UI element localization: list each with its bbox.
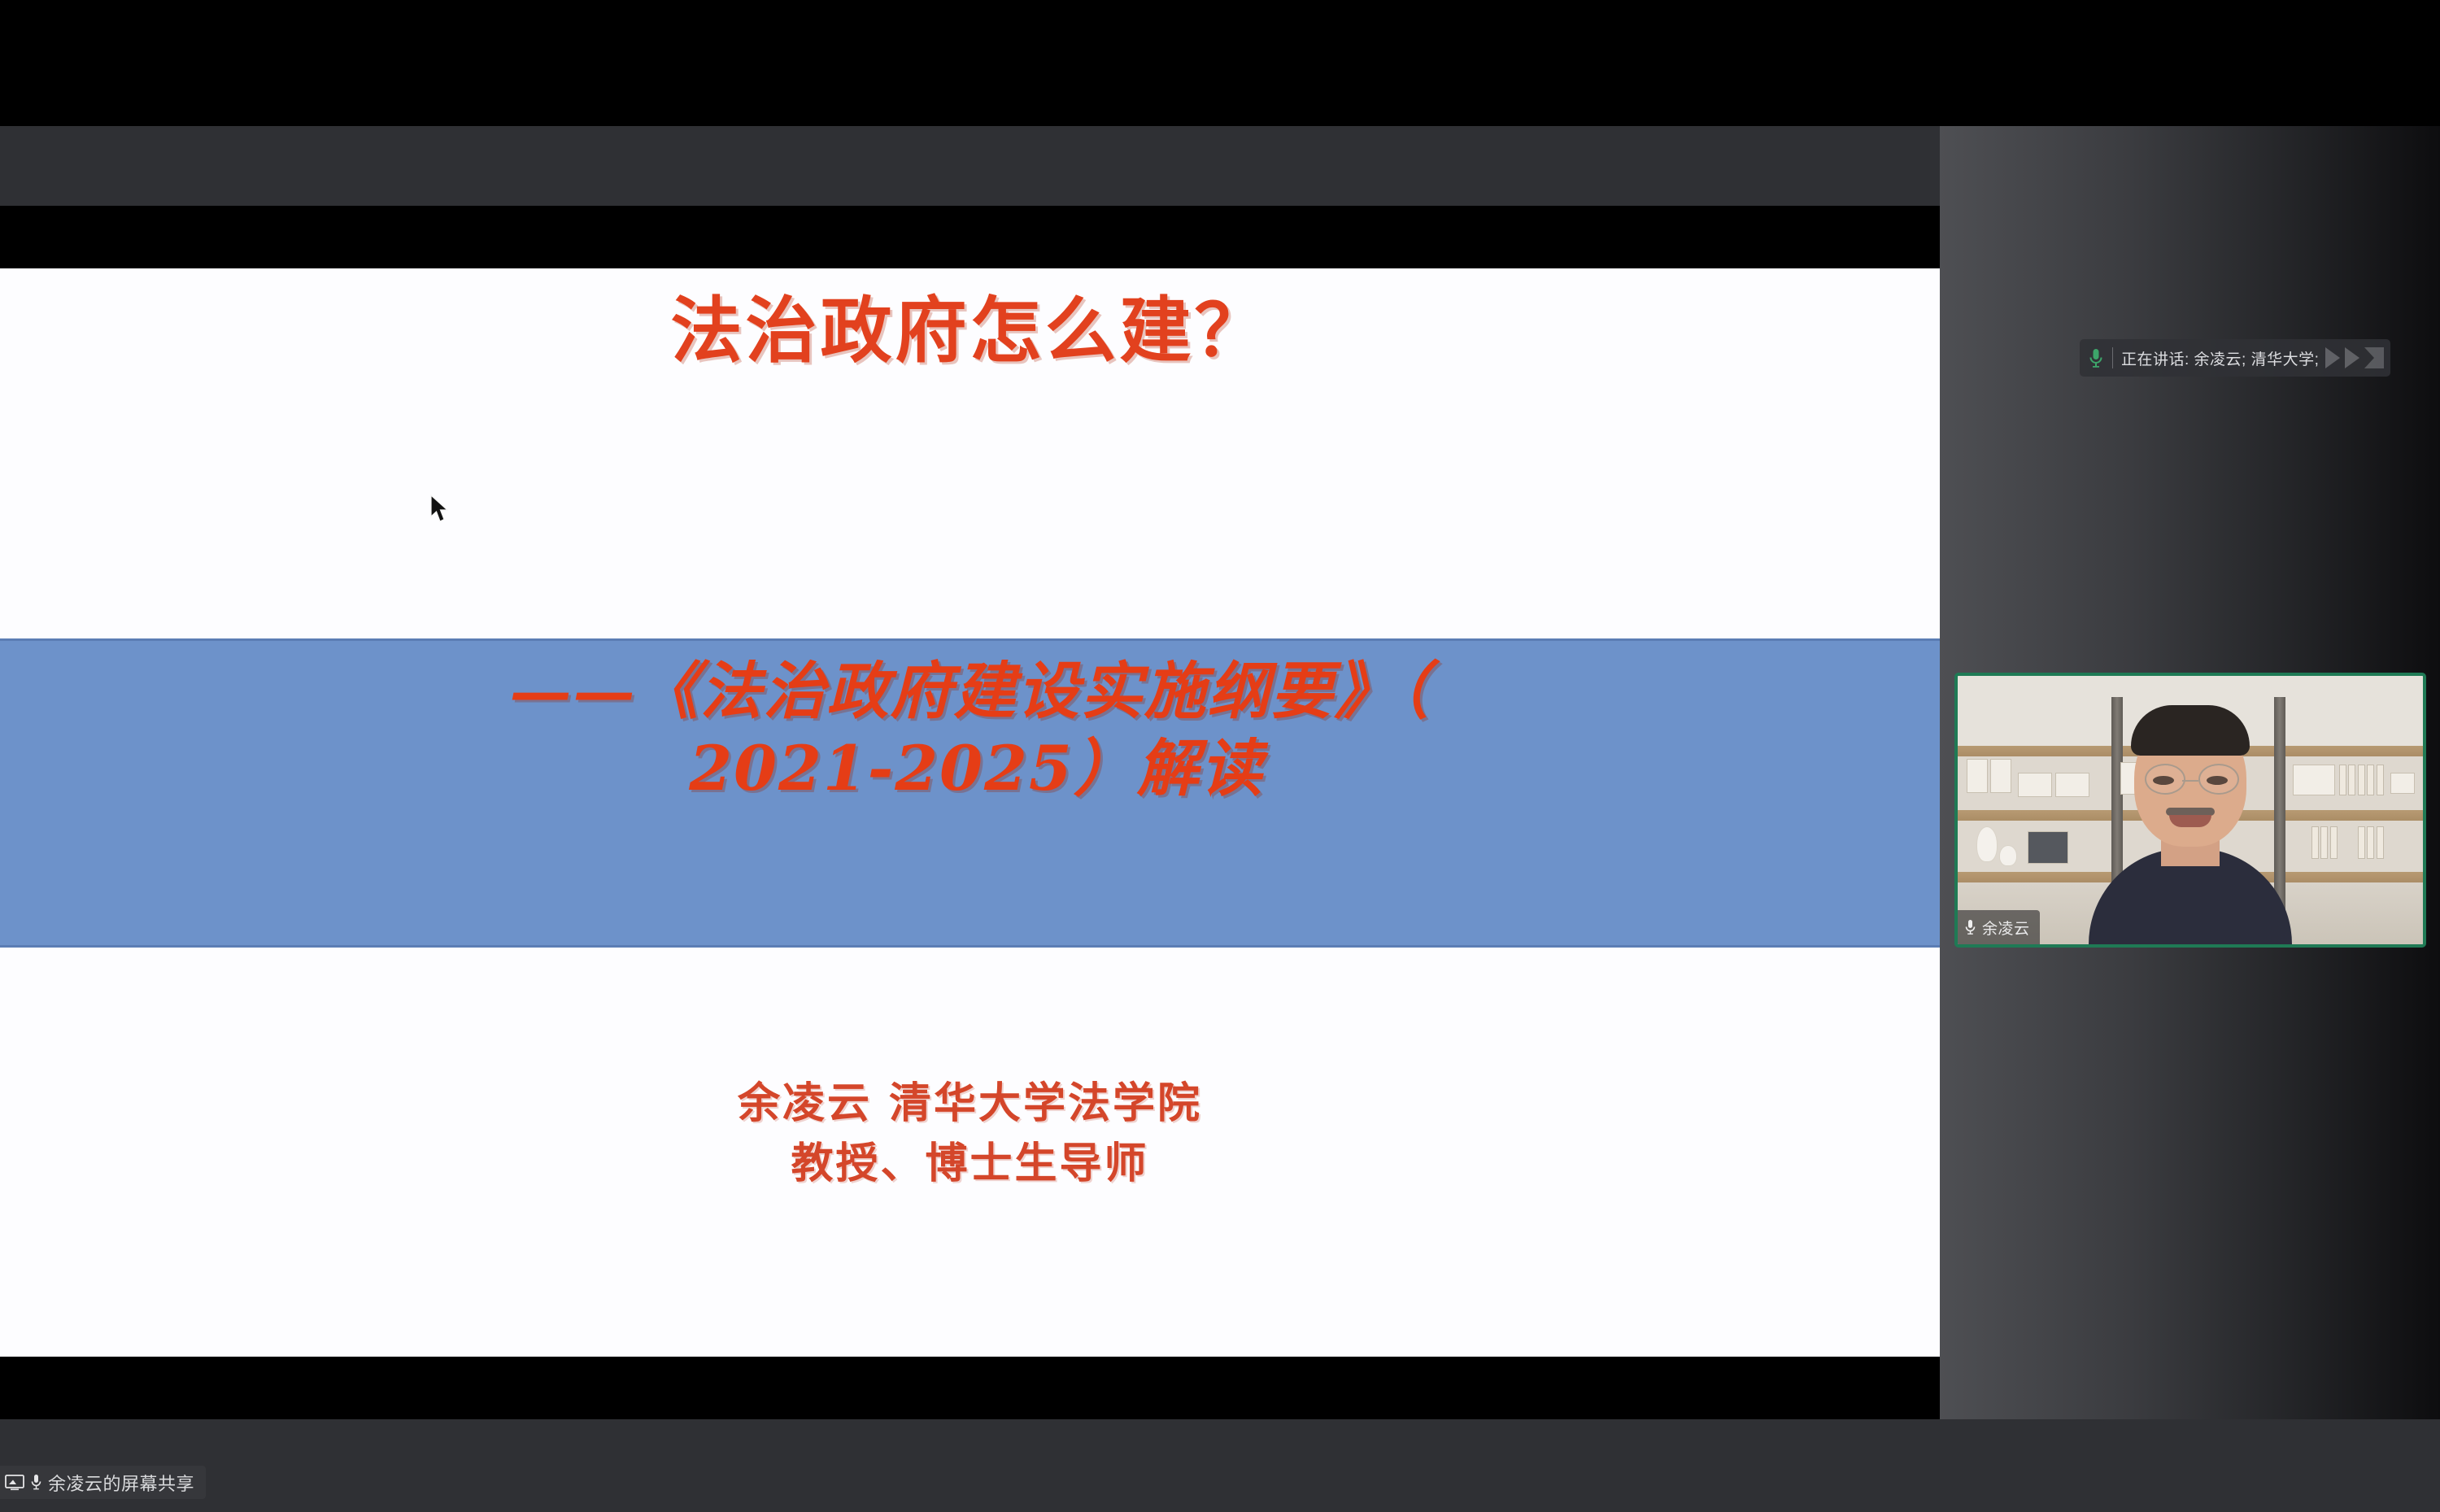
screen-share-status-label: 余凌云的屏幕共享 <box>48 1470 194 1496</box>
shelf-box <box>2390 773 2415 794</box>
slide-presenter-block: 余凌云 清华大学法学院 教授、博士生导师 <box>0 1074 1940 1194</box>
mic-unmuted-icon <box>1964 919 1976 935</box>
slide-subtitle-line-1: ——《法治政府建设实施纲要》（ <box>0 652 1940 730</box>
participant-video-feed <box>2089 725 2292 944</box>
slide-canvas: 法治政府怎么建？ ——《法治政府建设实施纲要》（ 2021-2025）解读 余凌… <box>0 268 1940 1357</box>
shelf-book <box>2330 826 2338 859</box>
participant-nametag: 余凌云 <box>1958 910 2040 944</box>
double-chevron-icon <box>2320 344 2384 372</box>
shelf-box <box>1990 759 2011 793</box>
slide-presenter-line-2: 教授、博士生导师 <box>0 1134 1940 1194</box>
letterbox-bottom <box>0 1357 1940 1419</box>
participant-video-tile[interactable]: 余凌云 <box>1954 673 2426 948</box>
shelf-book <box>2348 765 2355 795</box>
participant-name-label: 余凌云 <box>1982 917 2030 939</box>
screen-share-icon <box>5 1475 24 1491</box>
person-glasses-bridge <box>2182 780 2198 782</box>
active-speaker-indicator[interactable]: 正在讲话: 余凌云; 清华大学; <box>2080 339 2390 377</box>
shelf-book <box>2367 765 2374 795</box>
screen-share-status[interactable]: 余凌云的屏幕共享 <box>0 1466 206 1499</box>
letterbox-top <box>0 0 1940 126</box>
mic-active-icon <box>2088 347 2104 368</box>
shelf-vase <box>1999 845 2017 866</box>
shelf-vase <box>1976 826 1998 862</box>
participant-panel: 正在讲话: 余凌云; 清华大学; <box>1940 126 2440 1450</box>
shelf-book <box>2377 765 2384 795</box>
person-mouth <box>2169 815 2211 827</box>
presentation-toolbar-band <box>0 126 1940 206</box>
person-glasses <box>2198 764 2239 795</box>
slide-subtitle-line-2: 2021-2025）解读 <box>0 730 1940 807</box>
person-hair <box>2131 705 2250 756</box>
mic-unmuted-icon <box>30 1474 42 1491</box>
shelf-monitor <box>2028 831 2068 864</box>
shelf-book <box>2339 765 2346 795</box>
shelf-box <box>2293 765 2335 795</box>
slide-title: 法治政府怎么建？ <box>0 290 1940 372</box>
shelf-box <box>2018 773 2052 797</box>
shelf-book <box>2358 826 2365 859</box>
shelf-book <box>2367 826 2374 859</box>
app-root: 法治政府怎么建？ ——《法治政府建设实施纲要》（ 2021-2025）解读 余凌… <box>0 0 2440 1512</box>
shelf-book <box>2377 826 2384 859</box>
slide-subtitle: ——《法治政府建设实施纲要》（ 2021-2025）解读 <box>0 652 1940 807</box>
pill-divider <box>2112 347 2113 368</box>
slide-presenter-line-1: 余凌云 清华大学法学院 <box>0 1074 1940 1134</box>
bottom-status-bar: 余凌云的屏幕共享 <box>0 1419 2440 1512</box>
shelf-book <box>2358 765 2365 795</box>
shared-screen-region[interactable]: 法治政府怎么建？ ——《法治政府建设实施纲要》（ 2021-2025）解读 余凌… <box>0 0 1940 1512</box>
shelf-book <box>2320 826 2328 859</box>
shelf-box <box>2055 773 2089 797</box>
shelf-book <box>2311 826 2319 859</box>
person-glasses <box>2145 764 2185 795</box>
letterbox-mid <box>0 206 1940 268</box>
shelf-box <box>1967 759 1988 793</box>
